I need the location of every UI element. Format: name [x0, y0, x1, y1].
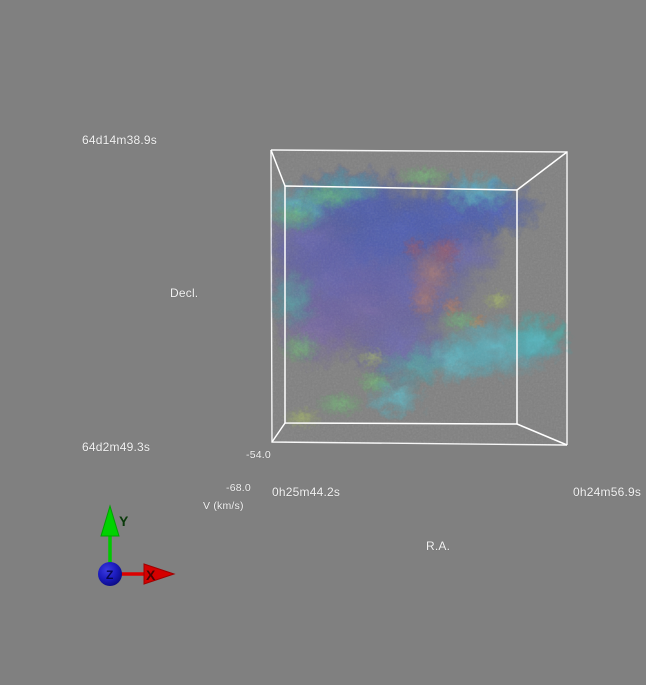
declination-axis-title: Decl.	[170, 286, 198, 300]
right-ascension-max-tick-label: 0h24m56.9s	[573, 485, 641, 499]
orientation-axis-x-label: X	[146, 567, 156, 583]
render-viewport[interactable]: 64d14m38.9s 64d2m49.3s Decl. 0h25m44.2s …	[0, 0, 646, 685]
velocity-axis-title: V (km/s)	[203, 499, 244, 513]
orientation-axes-widget[interactable]: Y X Z	[78, 500, 190, 600]
orientation-axis-z: Z	[98, 562, 122, 586]
declination-min-tick-label: 64d2m49.3s	[82, 440, 150, 454]
orientation-axes-canvas: Y X Z	[78, 500, 190, 600]
velocity-max-tick-label: -54.0	[246, 448, 271, 462]
velocity-min-tick-label: -68.0	[226, 481, 251, 495]
orientation-axis-y-label: Y	[119, 513, 129, 529]
declination-max-tick-label: 64d14m38.9s	[82, 133, 157, 147]
orientation-axis-z-label: Z	[106, 568, 113, 582]
volume-cloud	[252, 150, 569, 445]
right-ascension-axis-title: R.A.	[426, 539, 450, 553]
right-ascension-min-tick-label: 0h25m44.2s	[272, 485, 340, 499]
volume-cloud-overflow	[510, 318, 572, 366]
